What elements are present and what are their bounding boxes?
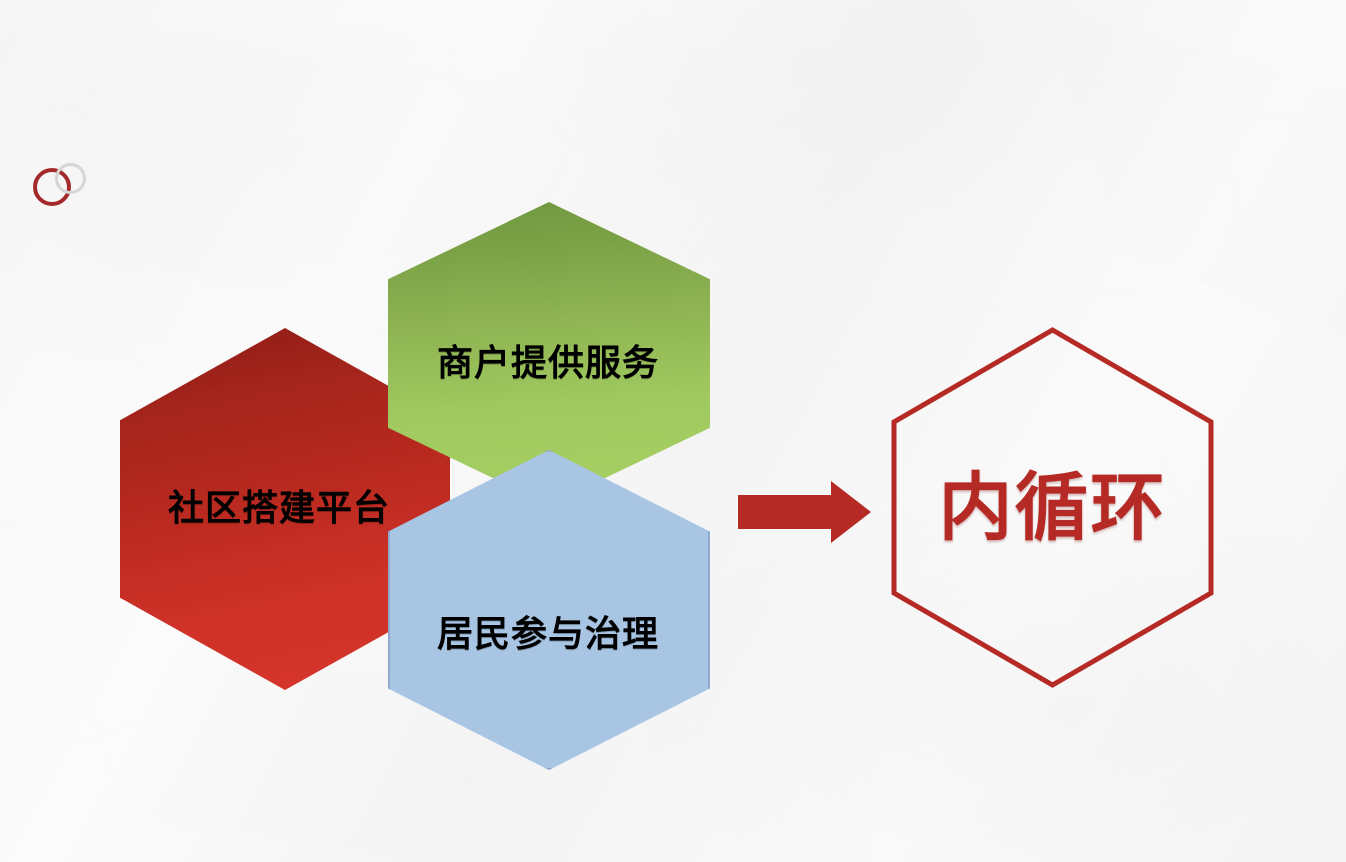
decorative-ring-grey (55, 163, 86, 194)
hexagon-label-community-platform: 社区搭建平台 (168, 491, 390, 527)
hexagon-label-internal-circulation: 内循环 (890, 327, 1215, 688)
slide-canvas: 社区搭建平台 商户提供服务 居民参与治理 内循环 (0, 0, 1346, 862)
hexagon-label-merchant-service: 商户提供服务 (437, 346, 659, 382)
hexagon-label-resident-governance: 居民参与治理 (437, 617, 659, 653)
hexagon-internal-circulation[interactable]: 内循环 (890, 327, 1215, 688)
flow-arrow-icon (738, 481, 871, 543)
